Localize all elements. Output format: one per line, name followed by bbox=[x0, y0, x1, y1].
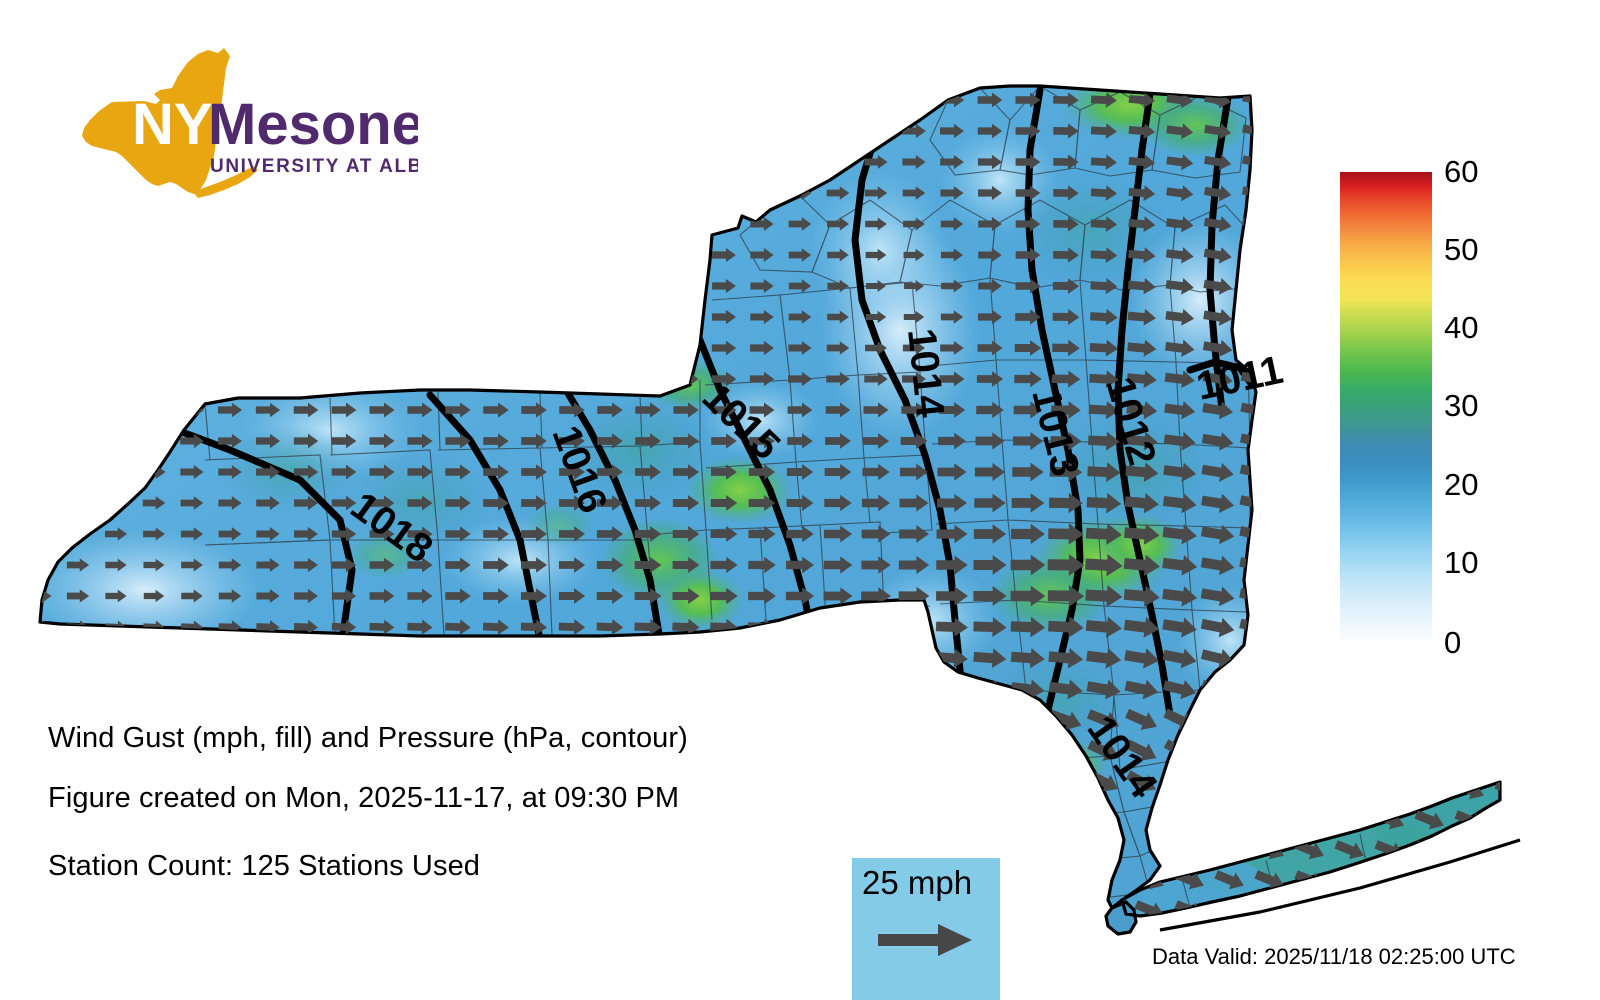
colorbar-tick-50: 50 bbox=[1444, 234, 1478, 265]
figure-created-text: Figure created on Mon, 2025-11-17, at 09… bbox=[48, 782, 679, 815]
colorbar-tick-40: 40 bbox=[1444, 312, 1478, 343]
wind-gust-colorbar: 60 50 40 30 20 10 0 bbox=[1340, 172, 1590, 652]
nys-mesonet-logo: NYS Mesonet UNIVERSITY AT ALBANY bbox=[48, 44, 418, 224]
wind-vector-key: 25 mph bbox=[852, 858, 1000, 1000]
colorbar-gradient bbox=[1340, 172, 1432, 645]
right-arrow-icon bbox=[876, 920, 976, 965]
colorbar-tick-10: 10 bbox=[1444, 547, 1478, 578]
long-island-fill bbox=[1100, 770, 1600, 950]
colorbar-tick-60: 60 bbox=[1444, 156, 1478, 187]
data-valid-text: Data Valid: 2025/11/18 02:25:00 UTC bbox=[1152, 944, 1516, 970]
figure-title: Wind Gust (mph, fill) and Pressure (hPa,… bbox=[48, 722, 688, 755]
colorbar-tick-0: 0 bbox=[1444, 627, 1461, 658]
vector-key-label: 25 mph bbox=[862, 864, 972, 902]
station-count-text: Station Count: 125 Stations Used bbox=[48, 850, 480, 883]
colorbar-tick-30: 30 bbox=[1444, 390, 1478, 421]
colorbar-tick-20: 20 bbox=[1444, 469, 1478, 500]
logo-mesonet-text: Mesonet bbox=[208, 92, 418, 157]
contour-label-1014-north: 1014 bbox=[899, 326, 952, 420]
logo-subtitle-text: UNIVERSITY AT ALBANY bbox=[210, 156, 418, 177]
